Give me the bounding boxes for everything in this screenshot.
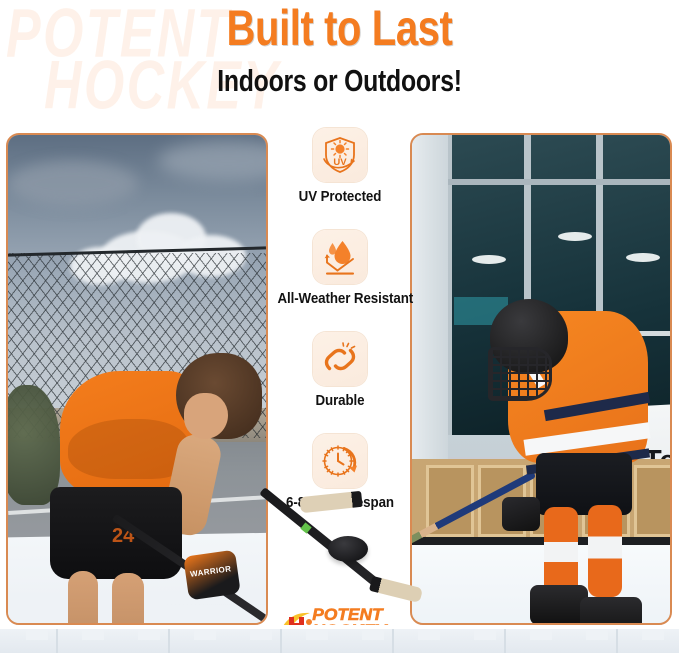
tile-nub (26, 629, 48, 640)
page-subtitle: Indoors or Outdoors! (68, 64, 611, 97)
tile-nub (82, 629, 104, 640)
tile-nub (250, 629, 272, 640)
player-leg (112, 573, 144, 623)
ceiling-light (558, 232, 592, 241)
tile-nub (530, 629, 552, 640)
crossed-sticks-and-puck (266, 478, 416, 613)
feature-label: UV Protected (277, 189, 402, 205)
shirt-shadow (68, 419, 188, 479)
tile-edge-strip (0, 625, 679, 653)
indoor-photo: Te (412, 135, 670, 623)
tile-seam (392, 629, 394, 653)
outdoor-photo: 24 WARRIOR CCM (8, 135, 266, 623)
ice-skate (580, 597, 642, 623)
tile-nub (194, 629, 216, 640)
hockey-puck (328, 536, 368, 562)
player-leg (68, 571, 98, 623)
tile-seam (168, 629, 170, 653)
tile-nub (642, 629, 664, 640)
tile-nub (306, 629, 328, 640)
tile-nub (586, 629, 608, 640)
tile-nub (362, 629, 384, 640)
water-droplet-icon (320, 237, 360, 277)
feature-icon-tile (313, 332, 367, 386)
feature-icon-tile (313, 230, 367, 284)
tile-nub (474, 629, 496, 640)
clock-arrow-icon (320, 441, 360, 481)
cubby (634, 465, 670, 537)
hockey-stick-blade (369, 576, 423, 603)
tile-seam (56, 629, 58, 653)
window-frame (445, 179, 670, 185)
page-title: Built to Last (68, 2, 611, 54)
hockey-sock (588, 505, 622, 597)
feature-label: Durable (277, 393, 402, 409)
feature-list: UV UV Protected All-Weather Resistant (272, 126, 408, 626)
uv-shield-icon: UV (320, 135, 360, 175)
tile-nub (418, 629, 440, 640)
infographic-canvas: POTENT HOCKEY Built to Last Indoors or O… (0, 0, 679, 653)
ceiling-light (472, 255, 506, 264)
helmet-cage (488, 347, 552, 401)
tile-nub (138, 629, 160, 640)
structural-post (412, 135, 448, 465)
brand-line-1: POTENT (312, 607, 386, 622)
indoor-photo-frame: Te (410, 133, 672, 625)
outdoor-photo-frame: 24 WARRIOR CCM (6, 133, 268, 625)
feature-item-all-weather-resistant: All-Weather Resistant (272, 230, 408, 307)
feature-item-uv-protected: UV UV Protected (272, 128, 408, 205)
tile-seam (280, 629, 282, 653)
tile-seam (504, 629, 506, 653)
chain-link-icon (320, 339, 360, 379)
hockey-stick-blade (299, 491, 362, 513)
feature-item-durable: Durable (272, 332, 408, 409)
hockey-glove (502, 497, 540, 531)
cloud (8, 161, 138, 207)
tile-seam (616, 629, 618, 653)
ceiling-light (626, 253, 660, 262)
hockey-pants (536, 453, 632, 515)
feature-label: All-Weather Resistant (277, 291, 402, 307)
feature-icon-tile: UV (313, 128, 367, 182)
